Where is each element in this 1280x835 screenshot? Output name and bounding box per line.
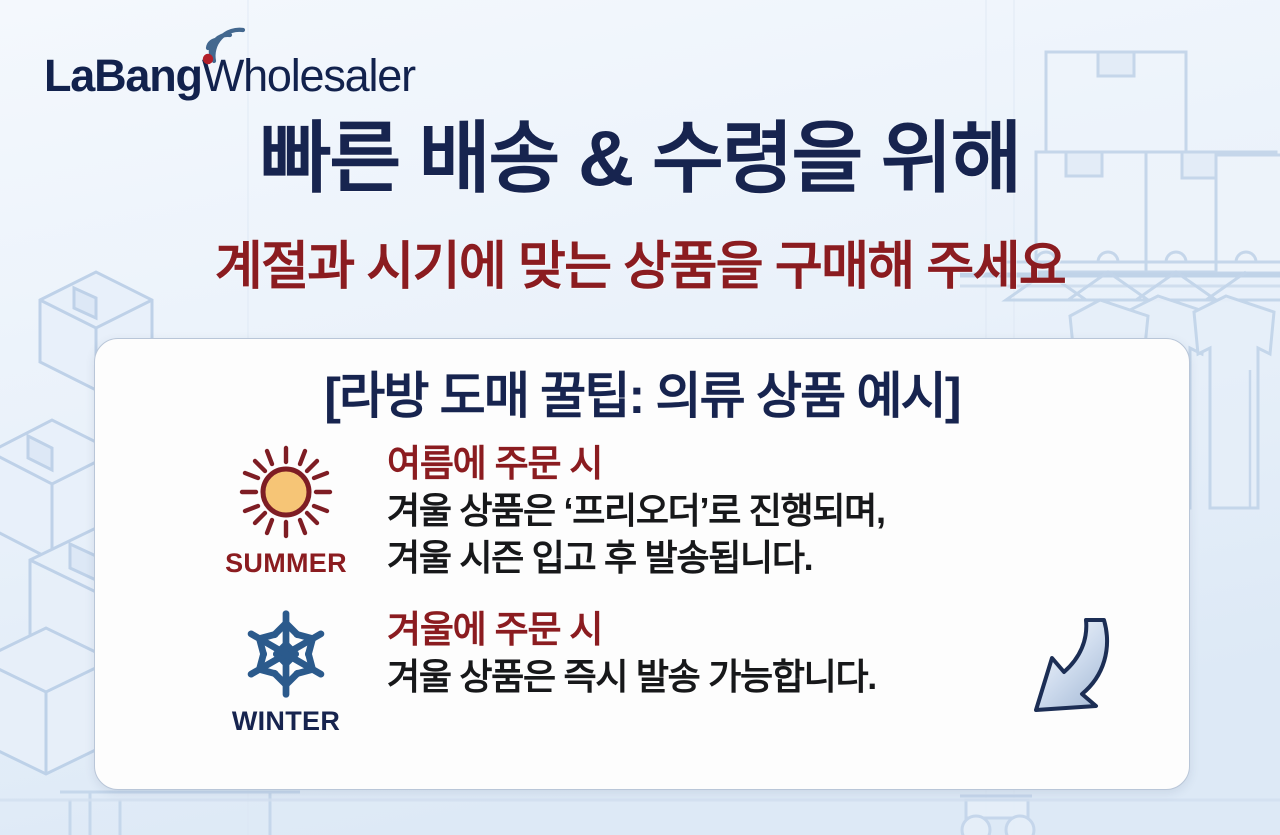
season-row-winter: WINTER 겨울에 주문 시 겨울 상품은 즉시 발송 가능합니다.	[129, 606, 1155, 737]
brand-logo: LaBangWholesaler	[44, 34, 415, 98]
season-row-summer: SUMMER 여름에 주문 시 겨울 상품은 ‘프리오더’로 진행되며, 겨울 …	[129, 440, 1155, 580]
winter-body-line-1: 겨울 상품은 즉시 발송 가능합니다.	[387, 654, 1155, 699]
page-headline: 빠른 배송 & 수령을 위해	[0, 118, 1280, 200]
summer-text-column: 여름에 주문 시 겨울 상품은 ‘프리오더’로 진행되며, 겨울 시즌 입고 후…	[361, 440, 1155, 580]
winter-icon-column: WINTER	[211, 606, 361, 737]
brand-name: LaBangWholesaler	[44, 53, 415, 98]
summer-body-line-2: 겨울 시즌 입고 후 발송됩니다.	[387, 535, 1155, 580]
poster-canvas: LaBangWholesaler 빠른 배송 & 수령을 위해 계절과 시기에 …	[0, 0, 1280, 835]
summer-heading: 여름에 주문 시	[387, 442, 1155, 486]
winter-heading: 겨울에 주문 시	[387, 608, 1155, 652]
winter-text-column: 겨울에 주문 시 겨울 상품은 즉시 발송 가능합니다.	[361, 606, 1155, 699]
snowflake-icon	[238, 606, 334, 702]
page-subheadline: 계절과 시기에 맞는 상품을 구매해 주세요	[0, 240, 1280, 295]
summer-icon-column: SUMMER	[211, 440, 361, 579]
card-title: [라방 도매 꿀팁: 의류 상품 예시]	[129, 369, 1155, 424]
sun-icon	[234, 440, 338, 544]
tip-card: [라방 도매 꿀팁: 의류 상품 예시]	[94, 338, 1190, 790]
winter-label: WINTER	[232, 706, 340, 737]
wifi-signal-icon	[200, 22, 256, 66]
summer-label: SUMMER	[225, 548, 347, 579]
summer-body-line-1: 겨울 상품은 ‘프리오더’로 진행되며,	[387, 488, 1155, 533]
brand-name-bold: LaBang	[44, 50, 202, 101]
